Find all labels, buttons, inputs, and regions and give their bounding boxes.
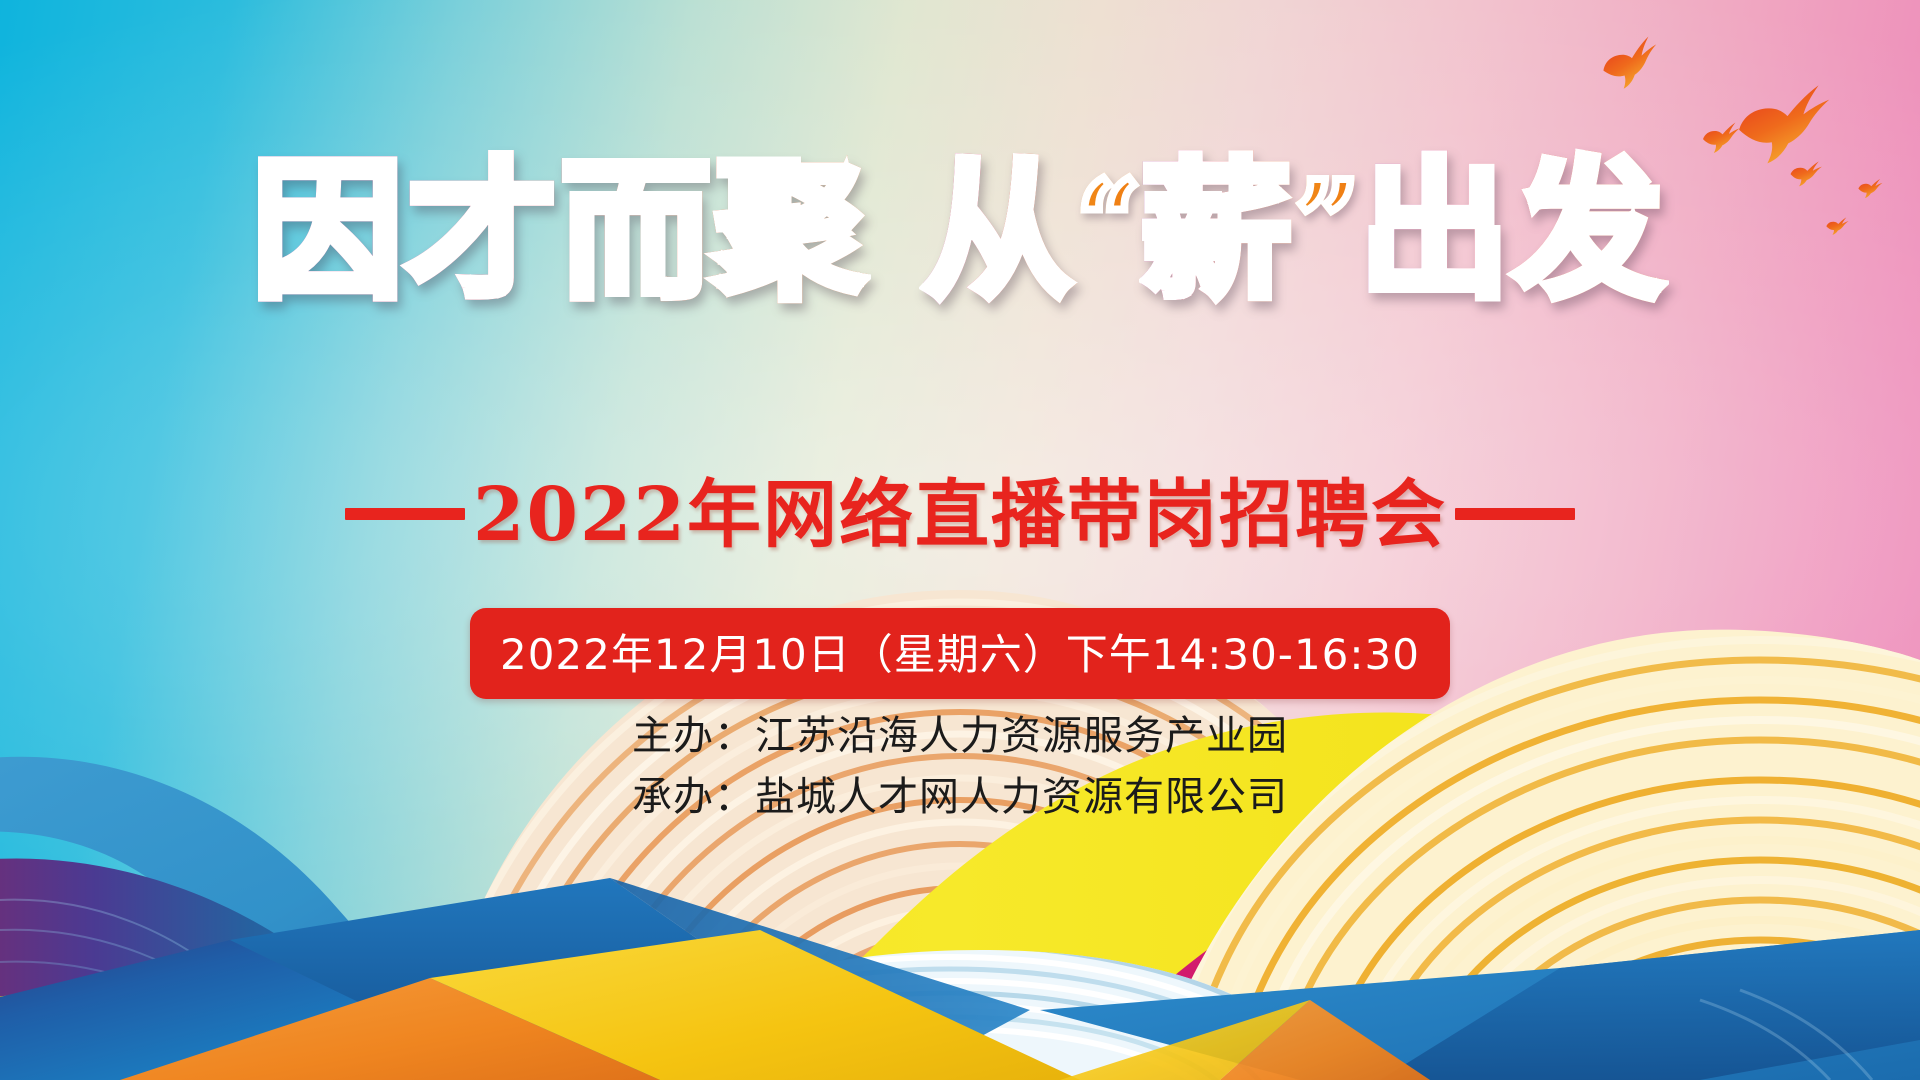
headline-part-3: 出发 [1359, 150, 1667, 312]
organiser-block: 主办：江苏沿海人力资源服务产业园 承办：盐城人才网人力资源有限公司 [632, 706, 1288, 828]
subheadline-rule-left [345, 508, 465, 520]
sub-headline: 2022年网络直播带岗招聘会 [0, 455, 1920, 562]
poster-content: 因才而聚从“薪”出发 2022年网络直播带岗招聘会 2022年12月10日（星期… [0, 0, 1920, 1080]
poster-canvas: 因才而聚从“薪”出发 2022年网络直播带岗招聘会 2022年12月10日（星期… [0, 0, 1920, 1080]
organiser-line-operator: 承办：盐城人才网人力资源有限公司 [632, 767, 1288, 828]
event-date-badge: 2022年12月10日（星期六）下午14:30-16:30 [470, 608, 1450, 699]
quote-close-mark: ” [1295, 157, 1359, 288]
subheadline-text: 2022年网络直播带岗招聘会 [473, 472, 1447, 558]
headline-part-1: 因才而聚 [253, 150, 869, 312]
main-headline: 因才而聚从“薪”出发 [0, 150, 1920, 312]
event-date-text: 2022年12月10日（星期六）下午14:30-16:30 [500, 630, 1420, 679]
headline-highlight-xin: 薪 [1141, 150, 1295, 312]
organiser-line-host: 主办：江苏沿海人力资源服务产业园 [632, 706, 1288, 767]
headline-part-2: 从 [923, 150, 1077, 312]
subheadline-rule-right [1455, 508, 1575, 520]
quote-open-mark: “ [1077, 157, 1141, 288]
